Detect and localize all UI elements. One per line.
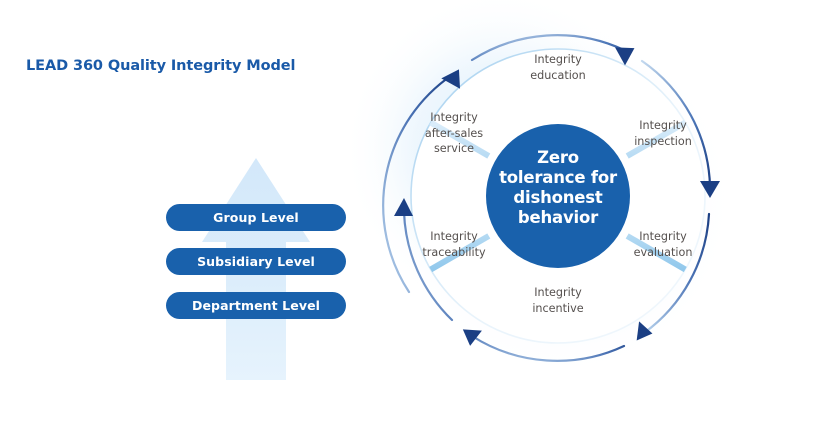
level-pill-department[interactable]: Department Level [166,292,346,319]
wheel-hub-label: Zero tolerance for dishonest behavior [486,148,630,228]
page-title: LEAD 360 Quality Integrity Model [26,58,295,74]
level-pill-group[interactable]: Group Level [166,204,346,231]
level-pill-subsidiary[interactable]: Subsidiary Level [166,248,346,275]
diagram-canvas: LEAD 360 Quality Integrity Model Group L… [0,0,828,427]
levels-group: Group Level Subsidiary Level Department … [160,150,360,385]
